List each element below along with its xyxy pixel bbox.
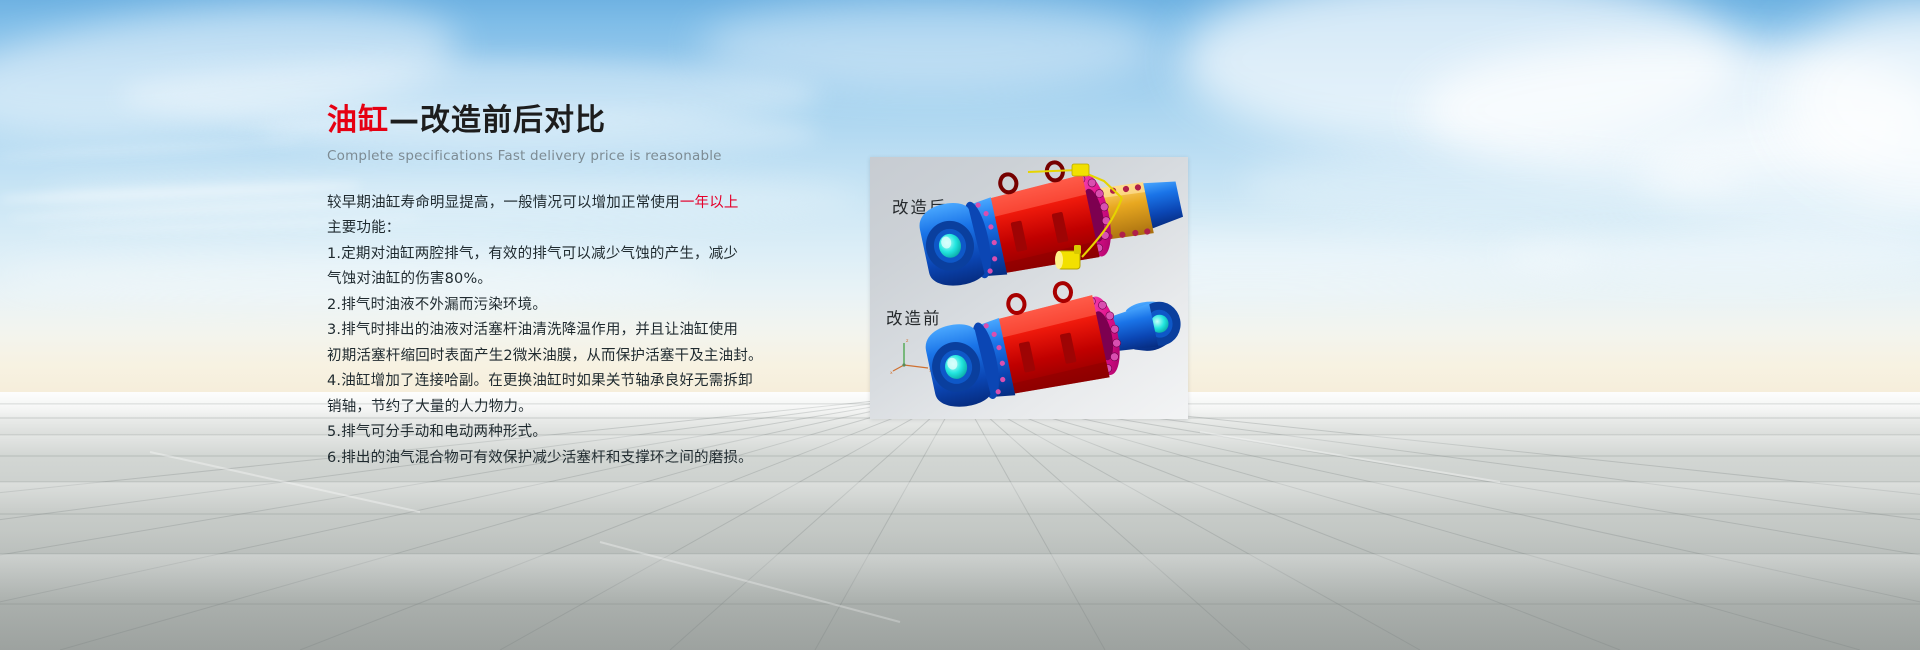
cloud-shape — [1640, 120, 1920, 230]
feature-item-cont: 气蚀对油缸的伤害80%。 — [327, 267, 867, 293]
svg-text:x: x — [890, 371, 893, 375]
description-line: 主要功能： — [327, 216, 867, 242]
feature-item: 2.排气时油液不外漏而污染环境。 — [327, 293, 867, 319]
feature-item: 5.排气可分手动和电动两种形式。 — [327, 420, 867, 446]
description-line: 较早期油缸寿命明显提高，一般情况可以增加正常使用一年以上 — [327, 191, 867, 217]
ground-vignette — [0, 530, 1920, 650]
feature-item: 3.排气时排出的油液对活塞杆油清洗降温作用，并且让油缸使用 — [327, 318, 867, 344]
feature-item: 1.定期对油缸两腔排气，有效的排气可以减少气蚀的产生，减少 — [327, 242, 867, 268]
cloud-shape — [1500, 230, 1920, 280]
hydraulic-cylinder-after-image — [908, 159, 1188, 293]
cloud-shape — [1180, 0, 1740, 150]
feature-item: 4.油缸增加了连接哈副。在更换油缸时如果关节轴承良好无需拆卸 — [327, 369, 867, 395]
feature-item-cont: 销轴，节约了大量的人力物力。 — [327, 395, 867, 421]
title-highlight: 油缸 — [327, 103, 389, 138]
feature-item: 6.排出的油气混合物可有效保护减少活塞杆和支撑环之间的磨损。 — [327, 446, 867, 472]
svg-text:z: z — [906, 339, 909, 344]
page-subtitle: Complete specifications Fast delivery pr… — [327, 148, 867, 164]
banner-text-column: 油缸—改造前后对比 Complete specifications Fast d… — [327, 104, 867, 471]
contrail-streak — [0, 138, 300, 160]
description-accent: 一年以上 — [680, 195, 739, 211]
product-banner: 油缸—改造前后对比 Complete specifications Fast d… — [0, 0, 1920, 650]
cloud-shape — [1240, 150, 1740, 220]
product-comparison-panel: 改造后 改造前 z x y — [870, 157, 1188, 419]
feature-item-cont: 初期活塞杆缩回时表面产生2微米油膜，从而保护活塞干及主油封。 — [327, 344, 867, 370]
cloud-shape — [1780, 0, 1920, 200]
cloud-shape — [1420, 40, 1920, 180]
title-rest: —改造前后对比 — [389, 103, 606, 138]
description-text: 较早期油缸寿命明显提高，一般情况可以增加正常使用 — [327, 195, 680, 211]
hydraulic-cylinder-before-image — [910, 275, 1188, 417]
cloud-shape — [700, 0, 1160, 90]
page-title: 油缸—改造前后对比 — [327, 104, 867, 139]
feature-description: 较早期油缸寿命明显提高，一般情况可以增加正常使用一年以上 主要功能： 1.定期对… — [327, 191, 867, 472]
pavement-background — [0, 392, 1920, 650]
